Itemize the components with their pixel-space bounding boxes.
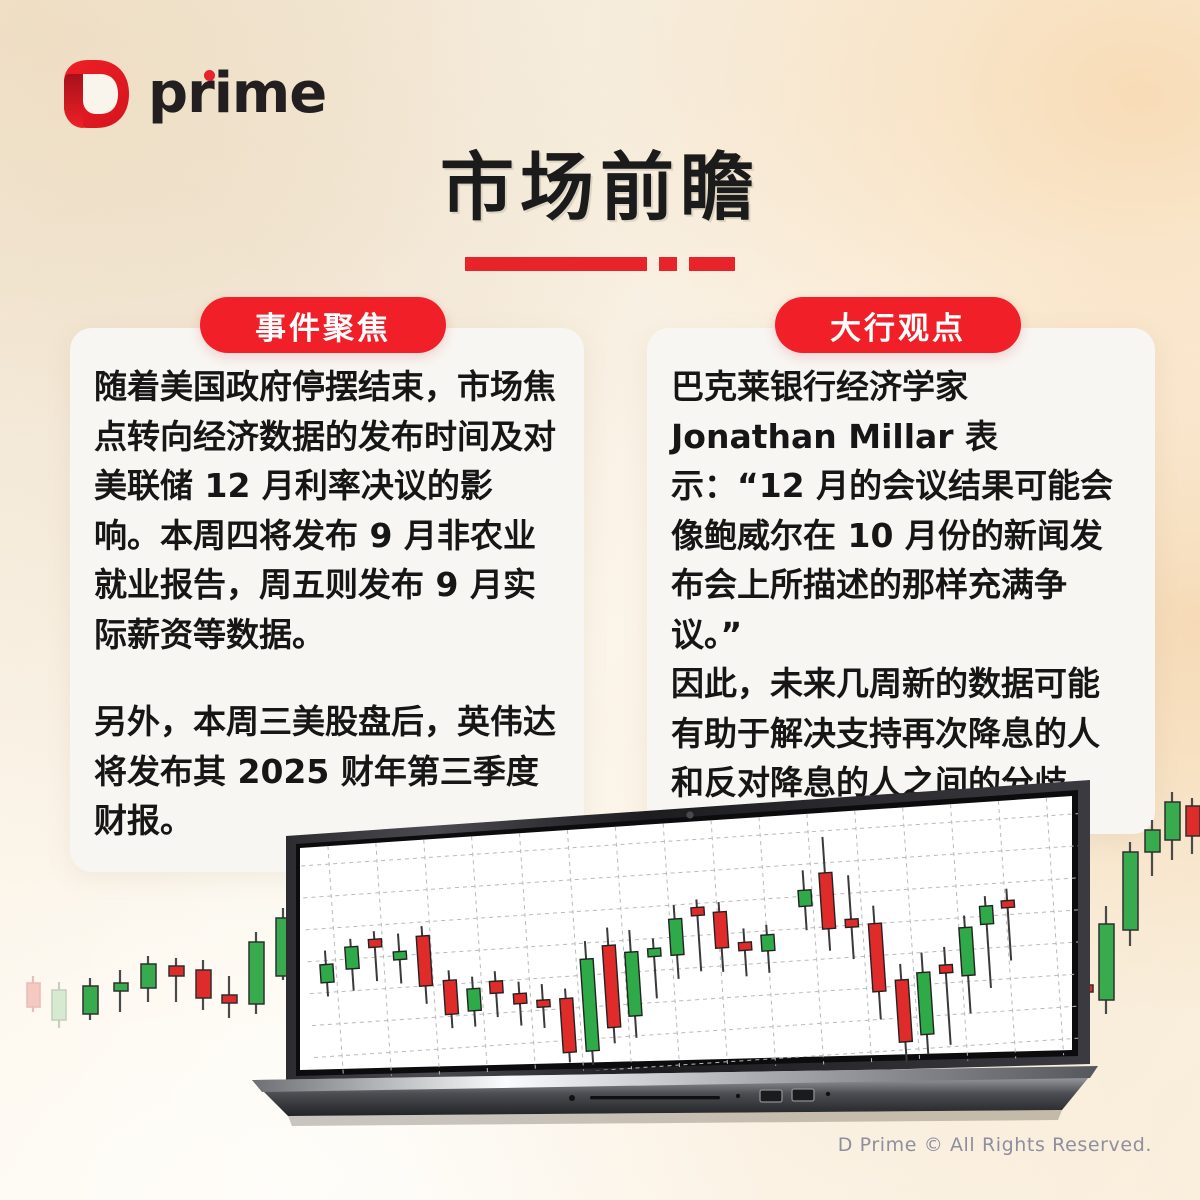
pill-event-focus-label: 事件聚焦 [255,303,391,348]
laptop-candlestick-chart [0,780,1200,1140]
pill-bank-view-label: 大行观点 [830,303,966,348]
page-title: 市场前瞻 [0,128,1200,235]
logo-i-dot-icon [204,70,215,81]
title-block: 市场前瞻 [0,128,1200,271]
divider-segment-mid [689,257,735,271]
brand-wordmark: prime [148,66,326,122]
d-prime-logo-icon [58,56,134,132]
card-event-focus-paragraph-1: 随着美国政府停摆结束，市场焦点转向经济数据的发布时间及对美联储 12 月利率决议… [94,362,558,659]
card-bank-view: 巴克莱银行经济学家 Jonathan Millar 表示：“12 月的会议结果可… [647,328,1155,834]
divider-segment-dot [659,257,677,271]
title-divider [0,257,1200,271]
card-event-focus-body: 随着美国政府停摆结束，市场焦点转向经济数据的发布时间及对美联储 12 月利率决议… [94,362,558,846]
pill-event-focus[interactable]: 事件聚焦 [200,297,446,353]
card-bank-view-paragraph-1: 巴克莱银行经济学家 Jonathan Millar 表示：“12 月的会议结果可… [671,362,1129,659]
divider-segment-long [465,257,647,271]
brand-wordmark-text: prime [148,61,326,126]
footer-copyright: D Prime © All Rights Reserved. [838,1134,1152,1156]
card-bank-view-body: 巴克莱银行经济学家 Jonathan Millar 表示：“12 月的会议结果可… [671,362,1129,808]
pill-bank-view[interactable]: 大行观点 [775,297,1021,353]
poster-canvas: prime 市场前瞻 随着美国政府停摆结束，市场焦点转向经济数据的发布时间及对美… [0,0,1200,1200]
brand-logo: prime [58,56,326,132]
